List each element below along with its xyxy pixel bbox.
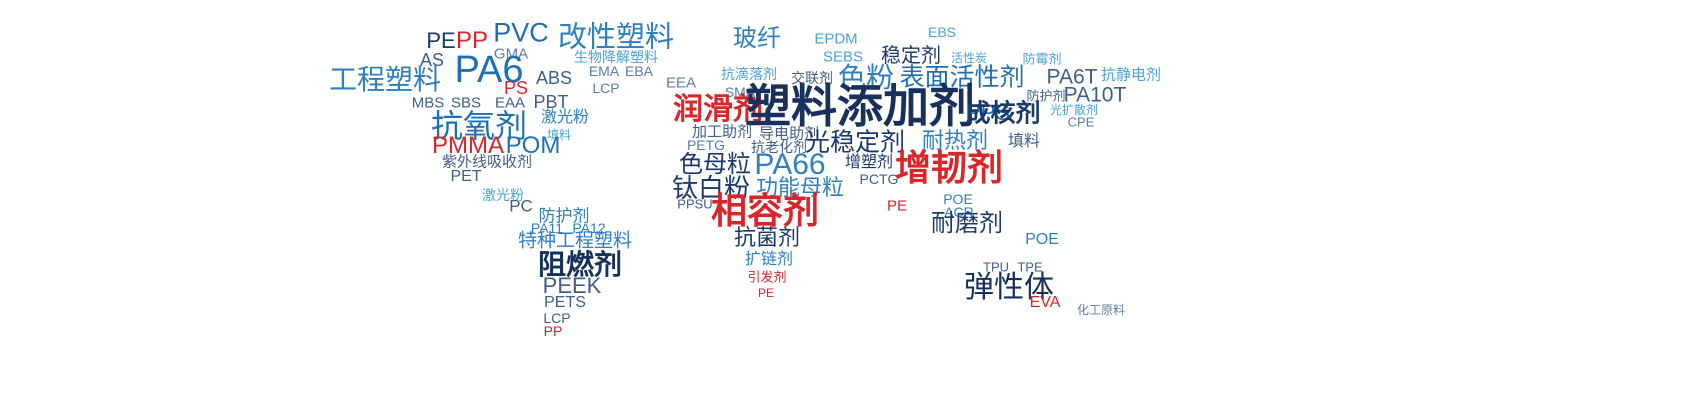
cloud-word[interactable]: EBA xyxy=(625,64,653,78)
cloud-word[interactable]: 活性炭 xyxy=(951,52,987,64)
cloud-word[interactable]: EEA xyxy=(666,76,696,91)
cloud-word[interactable]: ABS xyxy=(536,69,572,87)
cloud-word[interactable]: 塑料添加剂 xyxy=(745,83,975,129)
cloud-word[interactable]: PET xyxy=(450,169,481,185)
cloud-word[interactable]: PETG xyxy=(687,138,725,152)
word-cloud: PEPPPVCGMA改性塑料玻纤EPDMEBSASPA6生物降解塑料SEBS稳定… xyxy=(0,0,1707,400)
cloud-word[interactable]: 相容剂 xyxy=(711,193,819,229)
cloud-word[interactable]: CPE xyxy=(1068,116,1095,129)
cloud-word[interactable]: 扩链剂 xyxy=(745,252,793,268)
cloud-word[interactable]: LCP xyxy=(592,81,619,95)
cloud-word[interactable]: EPDM xyxy=(814,32,857,47)
cloud-word[interactable]: 防护剂 xyxy=(1026,90,1065,103)
cloud-word[interactable]: PS xyxy=(504,79,528,97)
cloud-word[interactable]: 成核剂 xyxy=(965,102,1040,127)
cloud-word[interactable]: 玻纤 xyxy=(733,27,781,51)
cloud-word[interactable]: PC xyxy=(509,198,533,215)
cloud-word[interactable]: PE xyxy=(758,287,774,299)
cloud-word[interactable]: EMA xyxy=(589,64,619,78)
cloud-word[interactable]: 工程塑料 xyxy=(329,66,441,94)
cloud-word[interactable]: 引发剂 xyxy=(747,271,786,284)
cloud-word[interactable]: POE xyxy=(1025,232,1059,248)
cloud-word[interactable]: PVC xyxy=(493,20,549,47)
cloud-word[interactable]: PPSU xyxy=(677,198,712,211)
cloud-word[interactable]: PCTG xyxy=(860,172,899,186)
cloud-word[interactable]: 生物降解塑料 xyxy=(574,50,658,64)
cloud-word[interactable]: EVA xyxy=(1030,295,1061,311)
cloud-word[interactable]: 特种工程塑料 xyxy=(518,232,632,251)
cloud-word[interactable]: EBS xyxy=(928,25,956,39)
cloud-word[interactable]: 化工原料 xyxy=(1077,304,1125,316)
cloud-word[interactable]: 填料 xyxy=(1008,134,1040,150)
cloud-word[interactable]: 防霉剂 xyxy=(1022,53,1061,66)
cloud-word[interactable]: 增韧剂 xyxy=(895,150,1003,186)
cloud-word[interactable]: 激光粉 xyxy=(541,110,589,126)
cloud-word[interactable]: PE xyxy=(426,30,455,52)
cloud-word[interactable]: 抗滴落剂 xyxy=(721,67,777,81)
cloud-word[interactable]: 抗静电剂 xyxy=(1101,68,1161,83)
cloud-word[interactable]: PETS xyxy=(544,295,586,311)
cloud-word[interactable]: PE xyxy=(887,199,907,214)
cloud-word[interactable]: 抗菌剂 xyxy=(734,227,800,249)
cloud-word[interactable]: PP xyxy=(544,324,563,338)
cloud-word[interactable]: 增塑剂 xyxy=(845,155,893,171)
cloud-word[interactable]: 耐磨剂 xyxy=(931,212,1003,236)
